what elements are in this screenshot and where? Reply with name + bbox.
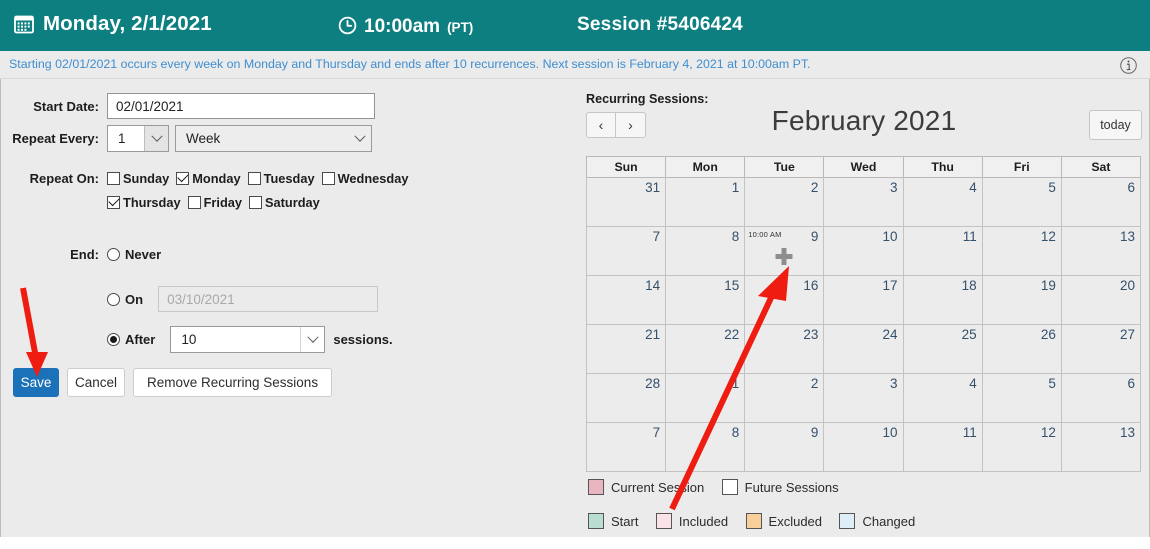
- calendar-day-number: 24: [883, 327, 898, 342]
- recurring-sessions-label: Recurring Sessions:: [586, 92, 708, 106]
- end-after-count-value: 10: [181, 332, 196, 347]
- recurrence-summary-bar: Starting 02/01/2021 occurs every week on…: [0, 51, 1150, 79]
- end-after-row: After 10 sessions.: [107, 326, 393, 353]
- calendar-day-number: 10: [883, 229, 898, 244]
- calendar-day-number: 27: [1120, 327, 1135, 342]
- repeat-unit-value: Week: [186, 131, 220, 146]
- repeat-on-monday[interactable]: Monday: [176, 171, 240, 186]
- calendar-day-31[interactable]: 31: [587, 178, 666, 227]
- calendar-day-9[interactable]: 10:00 AM9: [745, 227, 824, 276]
- calendar-day-10[interactable]: 10: [824, 423, 903, 472]
- calendar-day-2[interactable]: 2: [745, 178, 824, 227]
- calendar-day-number: 4: [969, 376, 977, 391]
- label-end-never: Never: [125, 247, 161, 262]
- calendar-day-number: 17: [883, 278, 898, 293]
- legend-current-session: Current Session: [588, 479, 704, 495]
- legend-swatch-future-sessions: [722, 479, 738, 495]
- calendar-day-7[interactable]: 7: [587, 423, 666, 472]
- calendar-day-number: 8: [732, 229, 740, 244]
- checkbox-thursday[interactable]: [107, 196, 120, 209]
- legend-label-excluded: Excluded: [769, 514, 822, 529]
- calendar-day-number: 4: [969, 180, 977, 195]
- calendar-day-12[interactable]: 12: [982, 423, 1061, 472]
- calendar-day-number: 5: [1048, 180, 1056, 195]
- repeat-interval-value: 1: [118, 131, 126, 146]
- checkbox-saturday[interactable]: [249, 196, 262, 209]
- calendar-week-row: 78910111213: [587, 423, 1141, 472]
- calendar-day-12[interactable]: 12: [982, 227, 1061, 276]
- calendar-day-25[interactable]: 25: [903, 325, 982, 374]
- calendar-day-26[interactable]: 26: [982, 325, 1061, 374]
- calendar-day-number: 10: [883, 425, 898, 440]
- calendar-day-number: 3: [890, 180, 898, 195]
- calendar-day-18[interactable]: 18: [903, 276, 982, 325]
- calendar-day-number: 3: [890, 376, 898, 391]
- legend-excluded: Excluded: [746, 513, 822, 529]
- weekday-wed: Wed: [824, 157, 903, 178]
- calendar-day-number: 16: [803, 278, 818, 293]
- calendar-day-number: 12: [1041, 425, 1056, 440]
- calendar-day-11[interactable]: 11: [903, 227, 982, 276]
- chevron-down-icon: [144, 126, 168, 151]
- calendar-legend-row-1: Current Session Future Sessions: [588, 479, 1144, 500]
- calendar-day-23[interactable]: 23: [745, 325, 824, 374]
- legend-label-future-sessions: Future Sessions: [745, 480, 839, 495]
- chevron-down-icon: [348, 126, 371, 151]
- radio-end-on[interactable]: [107, 293, 120, 306]
- calendar-week-row: 14151617181920: [587, 276, 1141, 325]
- repeat-on-thursday[interactable]: Thursday: [107, 195, 181, 210]
- radio-end-never[interactable]: [107, 248, 120, 261]
- calendar-week-row: 21222324252627: [587, 325, 1141, 374]
- calendar-day-number: 5: [1048, 376, 1056, 391]
- start-date-input[interactable]: 02/01/2021: [107, 93, 375, 119]
- calendar-day-number: 12: [1041, 229, 1056, 244]
- calendar-day-number: 14: [645, 278, 660, 293]
- calendar-day-4[interactable]: 4: [903, 178, 982, 227]
- calendar-weekday-header: Sun Mon Tue Wed Thu Fri Sat: [587, 157, 1141, 178]
- calendar-day-2[interactable]: 2: [745, 374, 824, 423]
- calendar-day-21[interactable]: 21: [587, 325, 666, 374]
- legend-future-sessions: Future Sessions: [722, 479, 839, 495]
- calendar-day-1[interactable]: 1: [666, 374, 745, 423]
- editor-panel: Start Date: 02/01/2021 Repeat Every: 1 W…: [0, 79, 1150, 537]
- recurring-sessions-calendar: Recurring Sessions: ‹ › February 2021 to…: [584, 79, 1144, 537]
- session-title: Session #5406424: [0, 14, 1150, 36]
- calendar-day-11[interactable]: 11: [903, 423, 982, 472]
- start-date-label: Start Date:: [1, 99, 107, 114]
- repeat-on-tuesday[interactable]: Tuesday: [248, 171, 315, 186]
- repeat-every-row: Repeat Every: 1 Week: [1, 125, 372, 152]
- calendar-day-number: 1: [732, 180, 740, 195]
- calendar-day-number: 15: [724, 278, 739, 293]
- calendar-legend-row-2: Start Included Excluded Changed: [588, 513, 1144, 534]
- calendar-day-8[interactable]: 8: [666, 227, 745, 276]
- repeat-on-friday[interactable]: Friday: [188, 195, 242, 210]
- calendar-day-number: 26: [1041, 327, 1056, 342]
- calendar-hover-time: 10:00 AM: [748, 230, 781, 239]
- calendar-day-number: 2: [811, 180, 819, 195]
- label-saturday: Saturday: [265, 195, 320, 210]
- checkbox-friday[interactable]: [188, 196, 201, 209]
- calendar-day-number: 6: [1127, 180, 1135, 195]
- calendar-title: February 2021: [584, 105, 1144, 137]
- calendar-day-number: 13: [1120, 425, 1135, 440]
- legend-swatch-included: [656, 513, 672, 529]
- calendar-day-number: 28: [645, 376, 660, 391]
- checkbox-wednesday[interactable]: [322, 172, 335, 185]
- label-thursday: Thursday: [123, 195, 181, 210]
- legend-start: Start: [588, 513, 638, 529]
- save-button[interactable]: Save: [13, 368, 59, 397]
- form-actions: Save Cancel Remove Recurring Sessions: [13, 368, 332, 397]
- legend-swatch-current-session: [588, 479, 604, 495]
- calendar-day-number: 19: [1041, 278, 1056, 293]
- legend-label-included: Included: [679, 514, 728, 529]
- legend-label-current-session: Current Session: [611, 480, 704, 495]
- plus-icon[interactable]: [776, 248, 793, 265]
- end-on-date-input[interactable]: 03/10/2021: [158, 286, 378, 312]
- calendar-day-5[interactable]: 5: [982, 178, 1061, 227]
- calendar-day-28[interactable]: 28: [587, 374, 666, 423]
- calendar-body: 311234567810:00 AM9101112131415161718192…: [587, 178, 1141, 472]
- remove-recurring-sessions-button[interactable]: Remove Recurring Sessions: [133, 368, 332, 397]
- calendar-day-5[interactable]: 5: [982, 374, 1061, 423]
- info-circle-icon[interactable]: [1119, 56, 1138, 75]
- calendar-day-4[interactable]: 4: [903, 374, 982, 423]
- calendar-day-14[interactable]: 14: [587, 276, 666, 325]
- label-friday: Friday: [204, 195, 242, 210]
- weekday-thu: Thu: [903, 157, 982, 178]
- calendar-day-9[interactable]: 9: [745, 423, 824, 472]
- calendar-day-number: 25: [962, 327, 977, 342]
- calendar-day-17[interactable]: 17: [824, 276, 903, 325]
- calendar-day-number: 23: [803, 327, 818, 342]
- calendar-day-13[interactable]: 13: [1061, 227, 1140, 276]
- legend-label-start: Start: [611, 514, 638, 529]
- calendar-day-number: 22: [724, 327, 739, 342]
- checkbox-tuesday[interactable]: [248, 172, 261, 185]
- recurrence-summary-text: Starting 02/01/2021 occurs every week on…: [9, 57, 810, 71]
- recurrence-form: Start Date: 02/01/2021 Repeat Every: 1 W…: [1, 79, 576, 537]
- title-bar: Monday, 2/1/2021 10:00am (PT) Session #5…: [0, 0, 1150, 51]
- calendar-day-number: 11: [963, 229, 977, 244]
- end-after-count-select[interactable]: 10: [170, 326, 325, 353]
- cancel-button[interactable]: Cancel: [67, 368, 125, 397]
- chevron-down-icon: [300, 327, 324, 352]
- calendar-day-20[interactable]: 20: [1061, 276, 1140, 325]
- end-label: End:: [1, 247, 107, 262]
- weekday-sat: Sat: [1061, 157, 1140, 178]
- calendar-day-27[interactable]: 27: [1061, 325, 1140, 374]
- weekday-fri: Fri: [982, 157, 1061, 178]
- calendar-day-15[interactable]: 15: [666, 276, 745, 325]
- weekday-mon: Mon: [666, 157, 745, 178]
- end-on-row: On 03/10/2021: [107, 286, 378, 312]
- label-monday: Monday: [192, 171, 240, 186]
- repeat-unit-select[interactable]: Week: [175, 125, 372, 152]
- repeat-interval-select[interactable]: 1: [107, 125, 169, 152]
- calendar-day-number: 8: [732, 425, 740, 440]
- calendar-day-1[interactable]: 1: [666, 178, 745, 227]
- calendar-day-number: 21: [645, 327, 660, 342]
- calendar-day-number: 7: [653, 425, 661, 440]
- end-never-row: End: Never: [1, 247, 161, 262]
- checkbox-monday[interactable]: [176, 172, 189, 185]
- label-end-after: After: [125, 332, 155, 347]
- calendar-day-number: 9: [811, 229, 819, 244]
- legend-label-changed: Changed: [862, 514, 915, 529]
- calendar-day-24[interactable]: 24: [824, 325, 903, 374]
- repeat-on-wednesday[interactable]: Wednesday: [322, 171, 409, 186]
- today-button[interactable]: today: [1089, 110, 1142, 140]
- calendar-day-number: 13: [1120, 229, 1135, 244]
- label-sunday: Sunday: [123, 171, 169, 186]
- calendar-day-3[interactable]: 3: [824, 374, 903, 423]
- repeat-on-row-1: Repeat On: Sunday Monday Tuesday: [1, 171, 415, 186]
- weekday-sun: Sun: [587, 157, 666, 178]
- calendar-day-6[interactable]: 6: [1061, 178, 1140, 227]
- repeat-on-saturday[interactable]: Saturday: [249, 195, 320, 210]
- repeat-on-sunday[interactable]: Sunday: [107, 171, 169, 186]
- calendar-day-number: 1: [732, 376, 740, 391]
- calendar-grid: Sun Mon Tue Wed Thu Fri Sat 311234567810…: [586, 156, 1141, 472]
- calendar-day-number: 2: [811, 376, 819, 391]
- calendar-day-number: 31: [645, 180, 660, 195]
- calendar-day-7[interactable]: 7: [587, 227, 666, 276]
- calendar-week-row: 31123456: [587, 178, 1141, 227]
- legend-changed: Changed: [839, 513, 915, 529]
- legend-swatch-start: [588, 513, 604, 529]
- label-sessions: sessions.: [333, 332, 392, 347]
- label-wednesday: Wednesday: [338, 171, 409, 186]
- legend-swatch-excluded: [746, 513, 762, 529]
- calendar-week-row: 7810:00 AM910111213: [587, 227, 1141, 276]
- legend-swatch-changed: [839, 513, 855, 529]
- checkbox-sunday[interactable]: [107, 172, 120, 185]
- calendar-day-10[interactable]: 10: [824, 227, 903, 276]
- calendar-day-19[interactable]: 19: [982, 276, 1061, 325]
- calendar-day-number: 11: [963, 425, 977, 440]
- calendar-day-6[interactable]: 6: [1061, 374, 1140, 423]
- calendar-day-number: 9: [811, 425, 819, 440]
- calendar-day-number: 7: [653, 229, 661, 244]
- calendar-day-3[interactable]: 3: [824, 178, 903, 227]
- label-tuesday: Tuesday: [264, 171, 315, 186]
- radio-end-after[interactable]: [107, 333, 120, 346]
- calendar-day-13[interactable]: 13: [1061, 423, 1140, 472]
- label-end-on: On: [125, 292, 143, 307]
- repeat-on-label: Repeat On:: [1, 171, 107, 186]
- repeat-on-row-2: Thursday Friday Saturday: [107, 195, 327, 210]
- calendar-day-16[interactable]: 16: [745, 276, 824, 325]
- calendar-day-number: 6: [1127, 376, 1135, 391]
- weekday-tue: Tue: [745, 157, 824, 178]
- repeat-every-label: Repeat Every:: [1, 131, 107, 146]
- calendar-day-number: 20: [1120, 278, 1135, 293]
- calendar-day-8[interactable]: 8: [666, 423, 745, 472]
- calendar-day-number: 18: [962, 278, 977, 293]
- calendar-day-22[interactable]: 22: [666, 325, 745, 374]
- recurring-session-editor: Monday, 2/1/2021 10:00am (PT) Session #5…: [0, 0, 1150, 549]
- calendar-week-row: 28123456: [587, 374, 1141, 423]
- start-date-row: Start Date: 02/01/2021: [1, 93, 375, 119]
- legend-included: Included: [656, 513, 728, 529]
